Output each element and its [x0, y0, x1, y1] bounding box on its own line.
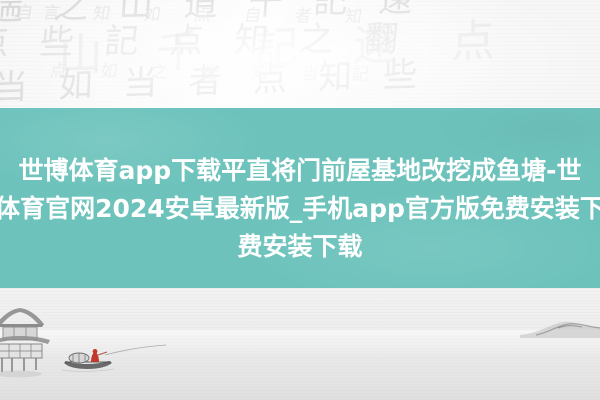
page-title-line-3: 费安装下载 [0, 228, 600, 266]
ink-wash-landscape [0, 288, 600, 400]
page-title: 世博体育app下载平直将门前屋基地改挖成鱼塘-世 体育官网2024安卓最新版_手… [0, 152, 600, 266]
paper-sheen-overlay [0, 0, 600, 110]
page-root: 之 山 千 記 遠 点 遄 之 山 逍 千 記 遠 点 些 記 点 知 之 翻 … [0, 0, 600, 400]
calligraphy-texture-band: 之 山 千 記 遠 点 遄 之 山 逍 千 記 遠 点 些 記 点 知 之 翻 … [0, 0, 600, 110]
distant-hill-icon [518, 316, 600, 338]
title-banner: 世博体育app下载平直将门前屋基地改挖成鱼塘-世 体育官网2024安卓最新版_手… [0, 108, 600, 288]
page-title-line-2: 体育官网2024安卓最新版_手机app官方版免费安装下 [0, 190, 600, 228]
page-title-line-1: 世博体育app下载平直将门前屋基地改挖成鱼塘-世 [0, 152, 600, 190]
boat-icon [62, 348, 114, 372]
pavilion-icon [0, 306, 52, 378]
